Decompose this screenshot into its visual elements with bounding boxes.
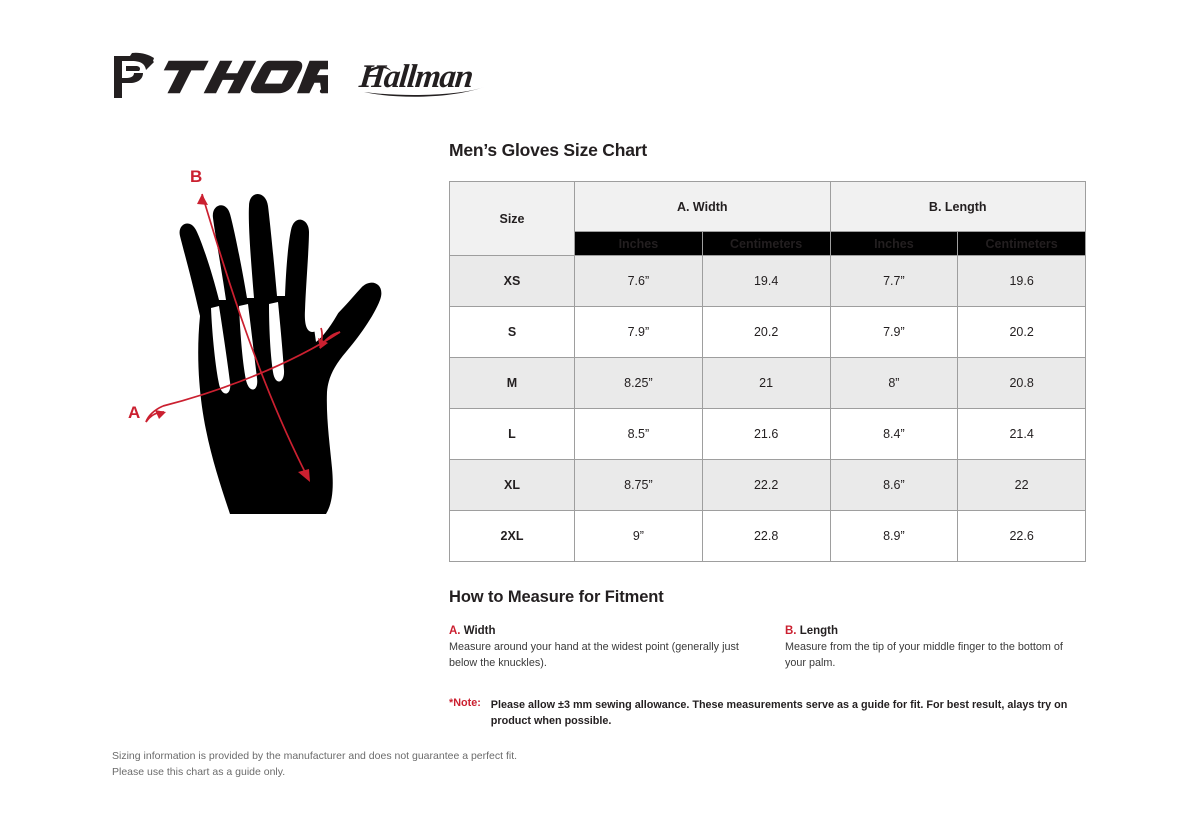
table-body: XS 7.6” 19.4 7.7” 19.6 S 7.9” 20.2 7.9” … <box>450 256 1086 562</box>
hand-illustration: A B <box>118 160 438 550</box>
cell-length-centimeters: 22 <box>958 460 1086 511</box>
cell-width-centimeters: 19.4 <box>702 256 830 307</box>
cell-width-inches: 8.25” <box>575 358 703 409</box>
footer-line-1: Sizing information is provided by the ma… <box>112 748 517 764</box>
table-head: Size A. Width B. Length Inches Centimete… <box>450 182 1086 256</box>
header-row-groups: Size A. Width B. Length <box>450 182 1086 232</box>
measure-length-body: Measure from the tip of your middle fing… <box>785 640 1085 671</box>
measure-length-label: Length <box>797 625 839 637</box>
cell-length-inches: 8.9” <box>830 511 958 562</box>
measure-label-a: A <box>128 403 140 422</box>
cell-size: 2XL <box>450 511 575 562</box>
cell-length-centimeters: 19.6 <box>958 256 1086 307</box>
measure-item-length: B. Length Measure from the tip of your m… <box>785 625 1085 671</box>
thor-wordmark <box>158 57 328 97</box>
cell-length-inches: 7.7” <box>830 256 958 307</box>
cell-width-inches: 7.6” <box>575 256 703 307</box>
footer-line-2: Please use this chart as a guide only. <box>112 764 517 780</box>
cell-width-inches: 7.9” <box>575 307 703 358</box>
table-row: S 7.9” 20.2 7.9” 20.2 <box>450 307 1086 358</box>
cell-length-inches: 8.6” <box>830 460 958 511</box>
header-length-centimeters: Centimeters <box>958 232 1086 256</box>
cell-length-centimeters: 20.8 <box>958 358 1086 409</box>
table-row: XL 8.75” 22.2 8.6” 22 <box>450 460 1086 511</box>
hallman-logo: Hallman <box>358 54 488 100</box>
svg-text:Hallman: Hallman <box>358 59 474 95</box>
measure-columns: A. Width Measure around your hand at the… <box>449 625 1086 671</box>
thor-logo <box>112 52 328 102</box>
header-group-width: A. Width <box>575 182 831 232</box>
header-width-centimeters: Centimeters <box>702 232 830 256</box>
size-chart-page: Hallman A <box>0 0 1200 820</box>
hand-diagram-svg: A B <box>118 160 438 550</box>
note-text: Please allow ±3 mm sewing allowance. The… <box>491 697 1076 729</box>
cell-size: XS <box>450 256 575 307</box>
cell-width-centimeters: 22.2 <box>702 460 830 511</box>
cell-size: L <box>450 409 575 460</box>
measure-length-letter: B. <box>785 625 797 637</box>
measure-width-label: Width <box>461 625 496 637</box>
chart-column: Men’s Gloves Size Chart Size A. Width B.… <box>449 140 1086 730</box>
cell-width-centimeters: 22.8 <box>702 511 830 562</box>
size-chart-table: Size A. Width B. Length Inches Centimete… <box>449 181 1086 562</box>
note-row: *Note: Please allow ±3 mm sewing allowan… <box>449 697 1086 729</box>
cell-length-inches: 8.4” <box>830 409 958 460</box>
header-width-inches: Inches <box>575 232 703 256</box>
table-row: M 8.25” 21 8” 20.8 <box>450 358 1086 409</box>
header-size: Size <box>450 182 575 256</box>
cell-length-inches: 8” <box>830 358 958 409</box>
header-length-inches: Inches <box>830 232 958 256</box>
measure-width-body: Measure around your hand at the widest p… <box>449 640 757 671</box>
thor-helmet-icon <box>112 52 156 102</box>
measure-length-heading: B. Length <box>785 625 1085 637</box>
cell-length-centimeters: 20.2 <box>958 307 1086 358</box>
measure-width-letter: A. <box>449 625 461 637</box>
note-tag: *Note: <box>449 697 481 729</box>
cell-width-centimeters: 20.2 <box>702 307 830 358</box>
cell-width-centimeters: 21.6 <box>702 409 830 460</box>
measure-label-b: B <box>190 167 202 186</box>
table-row: L 8.5” 21.6 8.4” 21.4 <box>450 409 1086 460</box>
measure-section-title: How to Measure for Fitment <box>449 588 1086 607</box>
measure-width-heading: A. Width <box>449 625 757 637</box>
cell-length-centimeters: 21.4 <box>958 409 1086 460</box>
table-row: XS 7.6” 19.4 7.7” 19.6 <box>450 256 1086 307</box>
footer-disclaimer: Sizing information is provided by the ma… <box>112 748 517 781</box>
cell-size: XL <box>450 460 575 511</box>
how-to-measure-section: How to Measure for Fitment A. Width Meas… <box>449 588 1086 730</box>
cell-width-inches: 9” <box>575 511 703 562</box>
header-group-length: B. Length <box>830 182 1086 232</box>
table-row: 2XL 9” 22.8 8.9” 22.6 <box>450 511 1086 562</box>
cell-width-inches: 8.5” <box>575 409 703 460</box>
cell-length-inches: 7.9” <box>830 307 958 358</box>
cell-size: S <box>450 307 575 358</box>
measure-item-width: A. Width Measure around your hand at the… <box>449 625 785 671</box>
cell-length-centimeters: 22.6 <box>958 511 1086 562</box>
brand-logo-row: Hallman <box>112 52 488 102</box>
cell-size: M <box>450 358 575 409</box>
cell-width-centimeters: 21 <box>702 358 830 409</box>
page-title: Men’s Gloves Size Chart <box>449 140 1086 161</box>
cell-width-inches: 8.75” <box>575 460 703 511</box>
